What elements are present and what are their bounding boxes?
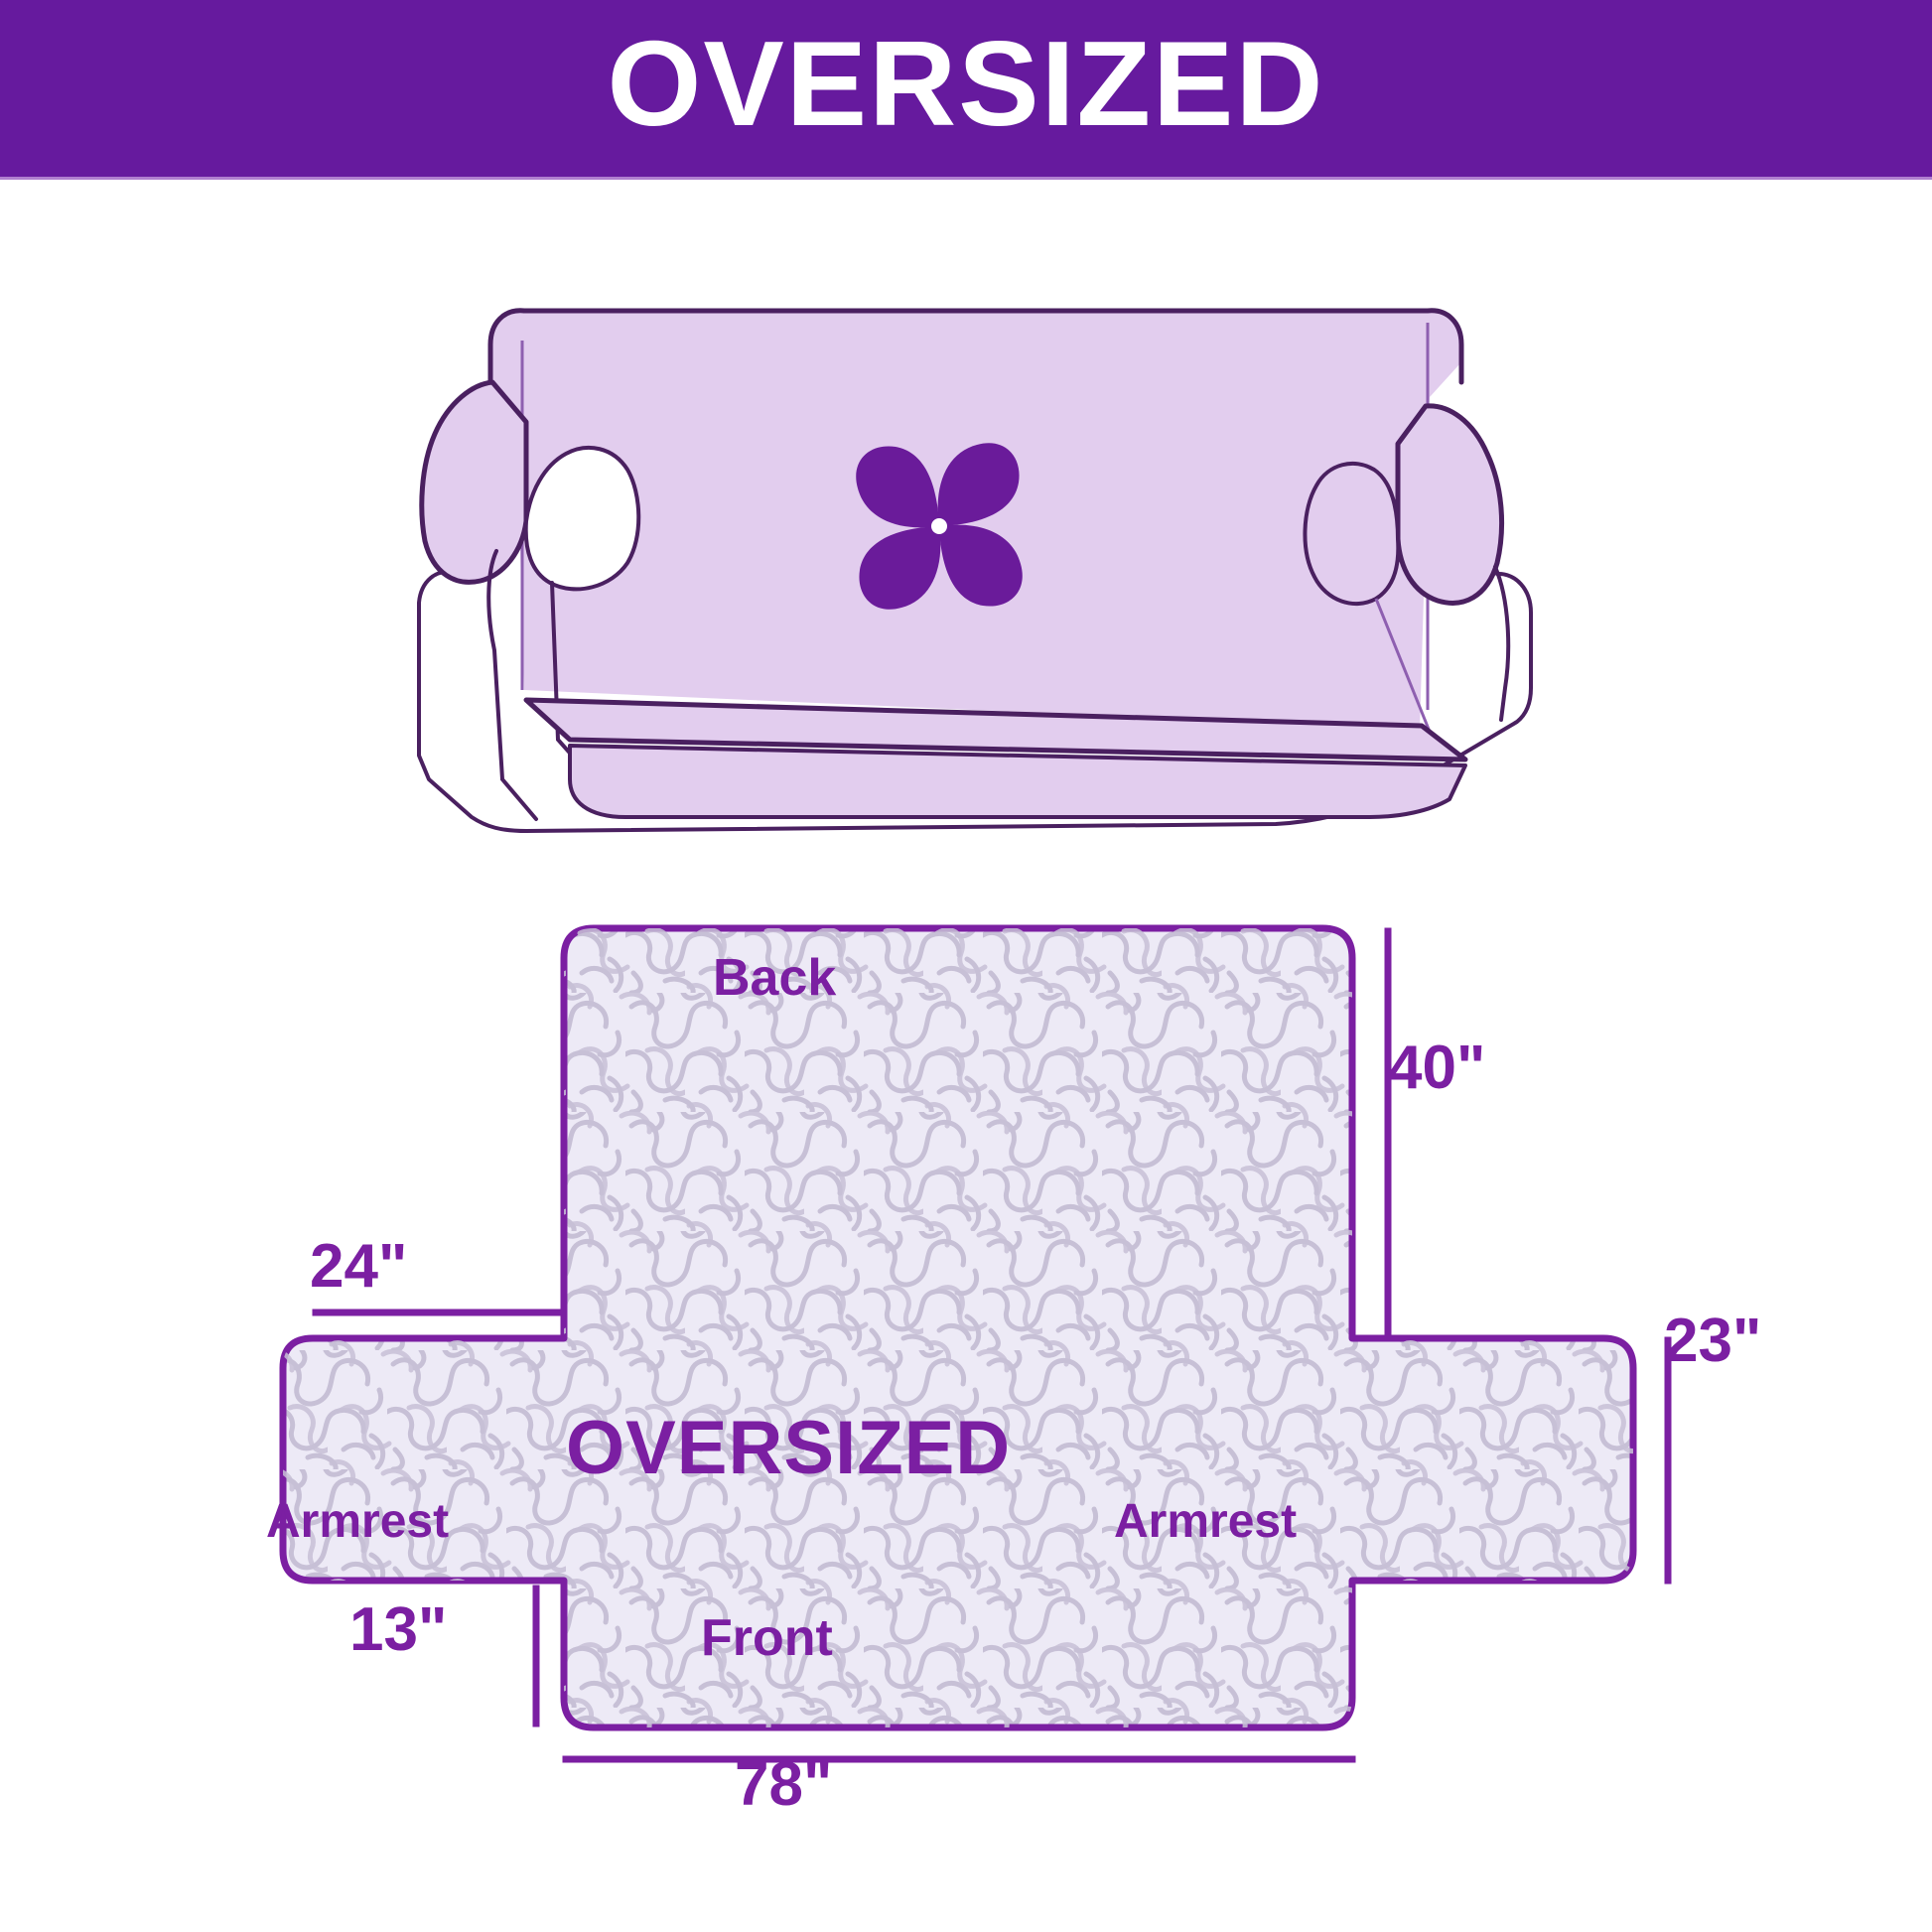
sofa-right-arm-roll	[1398, 406, 1502, 604]
cut-pattern-diagram	[149, 874, 1837, 1876]
dimension-label-back-height: 40"	[1388, 1033, 1485, 1103]
dimension-label-front-skirt: 13"	[349, 1594, 447, 1665]
region-label-armrest-left: Armrest	[266, 1494, 449, 1549]
sofa-illustration	[377, 223, 1559, 839]
region-label-back: Back	[713, 948, 836, 1008]
sofa-right-arm-inner	[1305, 464, 1398, 604]
dimension-label-front-width: 78"	[735, 1749, 832, 1820]
page-title: OVERSIZED	[0, 0, 1932, 177]
header-banner: OVERSIZED	[0, 0, 1932, 177]
region-label-armrest-right: Armrest	[1114, 1494, 1297, 1549]
region-label-front: Front	[701, 1608, 833, 1668]
diagram-center-label: OVERSIZED	[566, 1405, 1011, 1491]
dimension-label-armrest-height: 23"	[1664, 1306, 1761, 1376]
dimension-label-armrest-depth: 24"	[310, 1231, 407, 1302]
sofa-left-arm-roll	[422, 382, 526, 582]
